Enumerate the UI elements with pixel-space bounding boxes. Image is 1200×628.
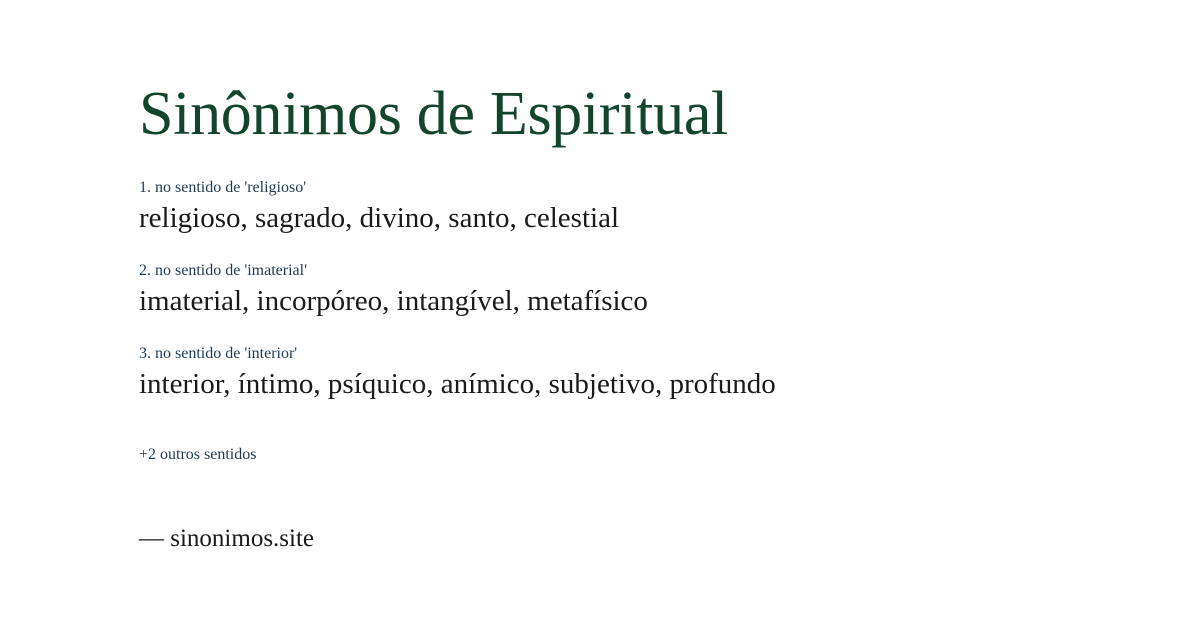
sense-entry: 1. no sentido de 'religioso' religioso, … [139,178,1139,236]
synonyms-share-card: Sinônimos de Espiritual 1. no sentido de… [0,0,1200,628]
sense-label: 1. no sentido de 'religioso' [139,178,1139,198]
sense-synonyms: religioso, sagrado, divino, santo, celes… [139,200,1139,236]
sense-synonyms: interior, íntimo, psíquico, anímico, sub… [139,366,1139,402]
sense-synonyms: imaterial, incorpóreo, intangível, metaf… [139,283,1139,319]
page-title: Sinônimos de Espiritual [139,77,728,151]
more-senses-note: +2 outros sentidos [139,445,256,465]
sense-label: 3. no sentido de 'interior' [139,344,1139,364]
site-attribution: — sinonimos.site [139,523,314,555]
sense-entry: 3. no sentido de 'interior' interior, ín… [139,344,1139,402]
sense-list: 1. no sentido de 'religioso' religioso, … [139,178,1139,427]
sense-entry: 2. no sentido de 'imaterial' imaterial, … [139,261,1139,319]
sense-label: 2. no sentido de 'imaterial' [139,261,1139,281]
